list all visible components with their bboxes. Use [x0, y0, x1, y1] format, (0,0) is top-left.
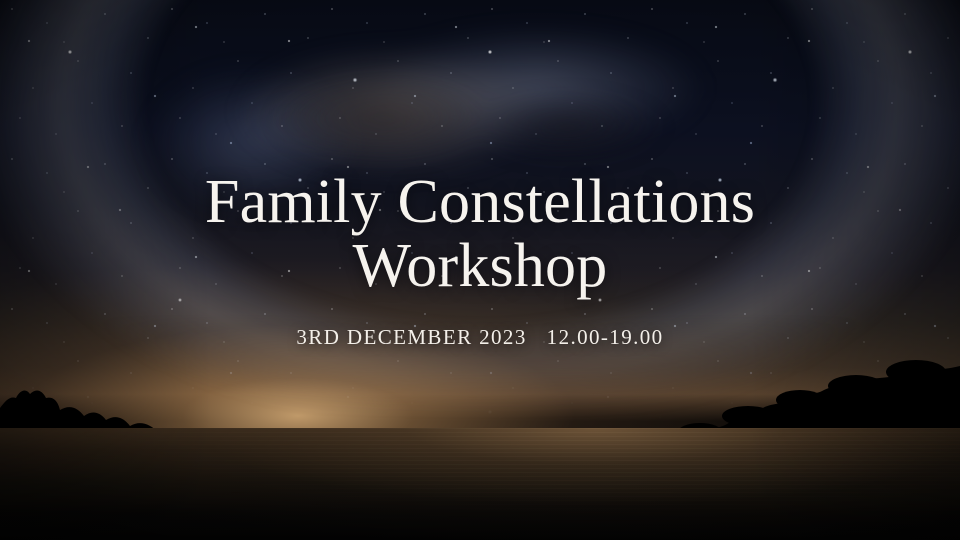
- event-date-time: 3RD DECEMBER 2023 12.00-19.00: [296, 325, 663, 350]
- page-title: Family Constellations Workshop: [140, 170, 820, 299]
- event-poster: Family Constellations Workshop 3RD DECEM…: [0, 0, 960, 540]
- poster-text-block: Family Constellations Workshop 3RD DECEM…: [0, 0, 960, 540]
